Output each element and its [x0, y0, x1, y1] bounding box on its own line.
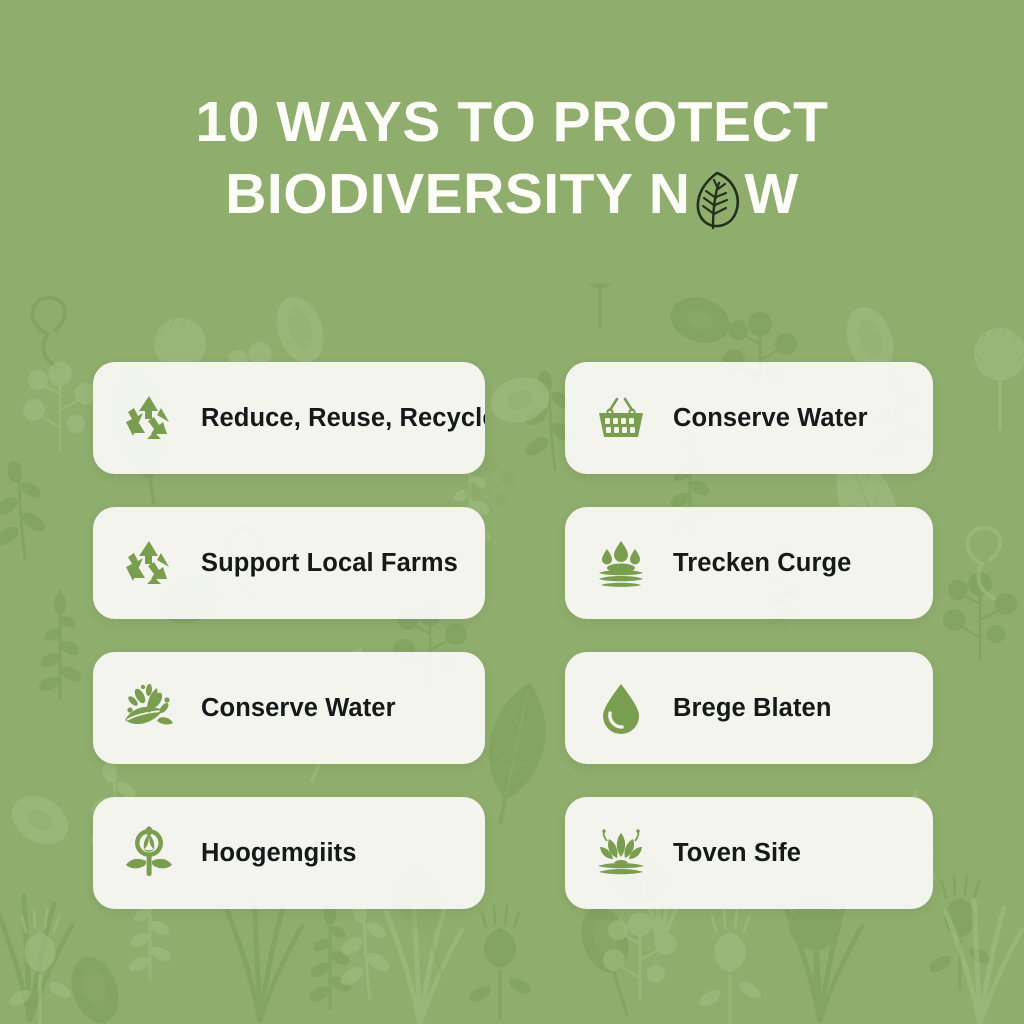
title-line-2-after: W	[744, 158, 798, 230]
water-drops-waves-icon	[593, 535, 649, 591]
page-title: 10 WAYS TO PROTECT BIODIVERSITY N W	[0, 86, 1024, 230]
water-droplet-icon	[593, 680, 649, 736]
tip-card-label: Reduce, Reuse, Recycle	[201, 404, 485, 433]
tip-card-label: Conserve Water	[201, 694, 396, 723]
tip-card-label: Toven Sife	[673, 839, 801, 868]
tip-card-label: Trecken Curge	[673, 549, 851, 578]
tips-card-grid: Reduce, Reuse, Recycle	[93, 362, 933, 909]
tip-card[interactable]: Conserve Water	[565, 362, 933, 474]
tip-card[interactable]: Support Local Farms	[93, 507, 485, 619]
recycle-icon	[121, 535, 177, 591]
shopping-basket-icon	[593, 390, 649, 446]
leaf-outline-icon	[691, 170, 743, 232]
tip-card-label: Conserve Water	[673, 404, 868, 433]
plant-leaves-field-icon	[593, 825, 649, 881]
recycle-icon	[121, 390, 177, 446]
tip-card-label: Support Local Farms	[201, 549, 458, 578]
tip-card[interactable]: Conserve Water	[93, 652, 485, 764]
tip-card[interactable]: Toven Sife	[565, 797, 933, 909]
tip-card[interactable]: Reduce, Reuse, Recycle	[93, 362, 485, 474]
leaf-sprig-icon	[121, 680, 177, 736]
title-line-2-before: BIODIVERSITY N	[225, 158, 690, 230]
infographic-poster: 10 WAYS TO PROTECT BIODIVERSITY N W	[0, 0, 1024, 1024]
tip-card[interactable]: Brege Blaten	[565, 652, 933, 764]
tip-card-label: Hoogemgiits	[201, 839, 357, 868]
tip-card[interactable]: Trecken Curge	[565, 507, 933, 619]
title-line-2: BIODIVERSITY N W	[0, 158, 1024, 230]
tip-card-label: Brege Blaten	[673, 694, 832, 723]
title-line-1: 10 WAYS TO PROTECT	[0, 86, 1024, 158]
flower-plant-icon	[121, 825, 177, 881]
tip-card[interactable]: Hoogemgiits	[93, 797, 485, 909]
